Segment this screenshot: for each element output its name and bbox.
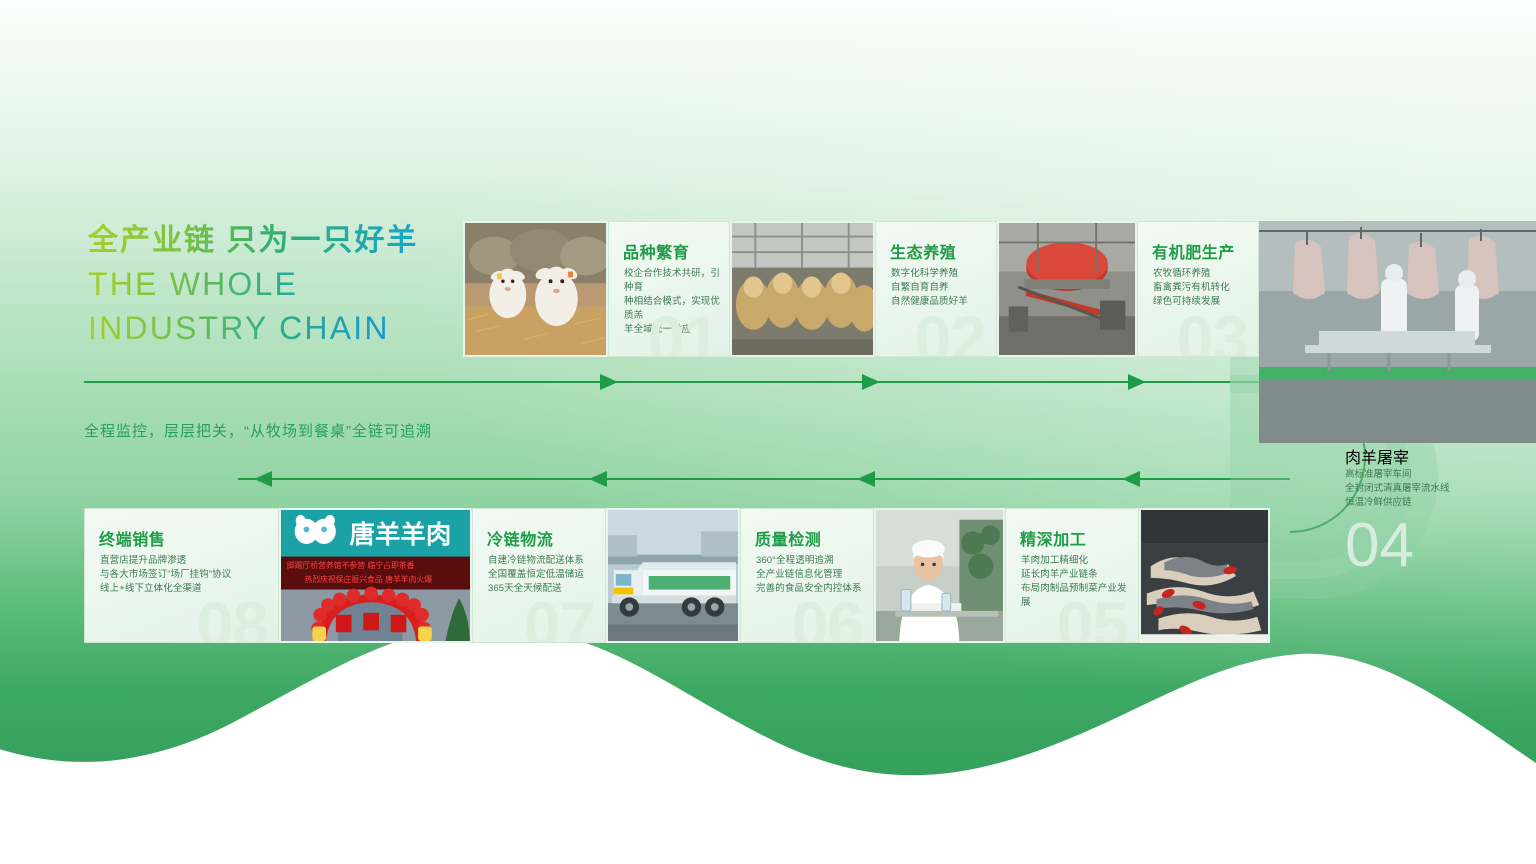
subtitle-traceability: 全程监控，层层把关，“从牧场到餐桌”全链可追溯 [84, 420, 432, 441]
step-line: 全产业链信息化管理 [756, 568, 864, 582]
step-line: 全封闭式清真屠宰流水线 [1345, 482, 1523, 496]
title-english-line-1: THE WHOLE [88, 264, 418, 305]
step-line: 校企合作技术共研，引种育 [624, 267, 720, 295]
step-line: 数字化科学养殖 [891, 267, 987, 281]
step-number: 08 [197, 592, 268, 643]
step-line: 全国覆盖恒定低温储运 [488, 568, 596, 582]
step-line: 自繁自育自养 [891, 281, 987, 295]
photo-lambs-in-pen [463, 221, 608, 357]
photo-organic-fertilizer-machine [997, 221, 1137, 357]
step-line: 自建冷链物流配送体系 [488, 554, 596, 568]
photo-cold-chain-truck [606, 508, 740, 643]
step-line: 农牧循环养殖 [1153, 267, 1249, 281]
step-card-06[interactable]: 质量检测 360°全程透明追溯 全产业链信息化管理 完善的食品安全内控体系 06 [740, 508, 874, 643]
step-lines: 高标准屠宰车间 全封闭式清真屠宰流水线 恒温冷鲜供应链 [1345, 468, 1523, 510]
step-line: 直营店提升品牌渗透 [100, 554, 269, 568]
step-line: 与各大市场签订“场厂挂钩”协议 [100, 568, 269, 582]
svg-text:脚踢厅桥营养馆不参营 临宁占即茶香: 脚踢厅桥营养馆不参营 临宁占即茶香 [287, 560, 415, 570]
step-title: 终端销售 [99, 526, 165, 550]
step-title: 品种繁育 [623, 239, 689, 263]
step-line: 360°全程透明追溯 [756, 554, 864, 568]
svg-text:热烈庆祝保庄振兴食品 唐羊羊肉火爆: 热烈庆祝保庄振兴食品 唐羊羊肉火爆 [305, 574, 433, 584]
step-line: 高标准屠宰车间 [1345, 468, 1523, 482]
step-card-02[interactable]: 生态养殖 数字化科学养殖 自繁自育自养 自然健康品质好羊 02 [875, 221, 997, 357]
page-title: 全产业链 只为一只好羊 THE WHOLE INDUSTRY CHAIN [88, 222, 418, 349]
step-card-01[interactable]: 品种繁育 校企合作技术共研，引种育 种相结合模式，实现优质羔 羊全域统一供应 0… [608, 221, 730, 357]
step-number: 06 [792, 592, 863, 643]
step-line: 羊肉加工精细化 [1021, 554, 1129, 568]
step-number: 02 [915, 306, 986, 357]
photo-lab-inspector [874, 508, 1005, 643]
photo-slaughterhouse-line [1259, 221, 1536, 443]
step-number: 04 [1345, 510, 1520, 581]
storefront-sign-text: 唐羊羊肉 [350, 519, 452, 549]
title-chinese: 全产业链 只为一只好羊 [88, 222, 418, 260]
step-title: 精深加工 [1020, 526, 1086, 550]
step-title: 有机肥生产 [1152, 239, 1235, 263]
step-line: 恒温冷鲜供应链 [1345, 496, 1523, 510]
photo-sheep-barn [730, 221, 875, 357]
step-title: 质量检测 [755, 526, 821, 550]
step-number: 03 [1177, 306, 1248, 357]
title-english-line-2: INDUSTRY CHAIN [88, 308, 418, 349]
step-card-04[interactable]: 肉羊屠宰 高标准屠宰车间 全封闭式清真屠宰流水线 恒温冷鲜供应链 04 [1345, 444, 1520, 594]
step-title: 生态养殖 [890, 239, 956, 263]
step-number: 07 [524, 592, 595, 643]
step-line: 延长肉羊产业链条 [1021, 568, 1129, 582]
step-number: 01 [648, 306, 719, 357]
step-card-05[interactable]: 精深加工 羊肉加工精细化 延长肉羊产业链条 布局肉制品预制菜产业发展 05 [1005, 508, 1139, 643]
step-card-03[interactable]: 有机肥生产 农牧循环养殖 畜禽粪污有机转化 绿色可持续发展 03 [1137, 221, 1259, 357]
photo-retail-storefront: 唐羊羊肉 脚踢厅桥营养馆不参营 临宁占即茶香 热烈庆祝保庄振兴食品 唐羊羊肉火爆 [279, 508, 472, 643]
photo-processed-mutton-dish [1139, 508, 1270, 643]
step-card-07[interactable]: 冷链物流 自建冷链物流配送体系 全国覆盖恒定低温储运 365天全天候配送 07 [472, 508, 606, 643]
step-line: 畜禽粪污有机转化 [1153, 281, 1249, 295]
step-title: 冷链物流 [487, 526, 553, 550]
step-title: 肉羊屠宰 [1345, 444, 1520, 468]
step-card-08[interactable]: 终端销售 直营店提升品牌渗透 与各大市场签订“场厂挂钩”协议 线上+线下立体化全… [84, 508, 279, 643]
step-number: 05 [1057, 592, 1128, 643]
